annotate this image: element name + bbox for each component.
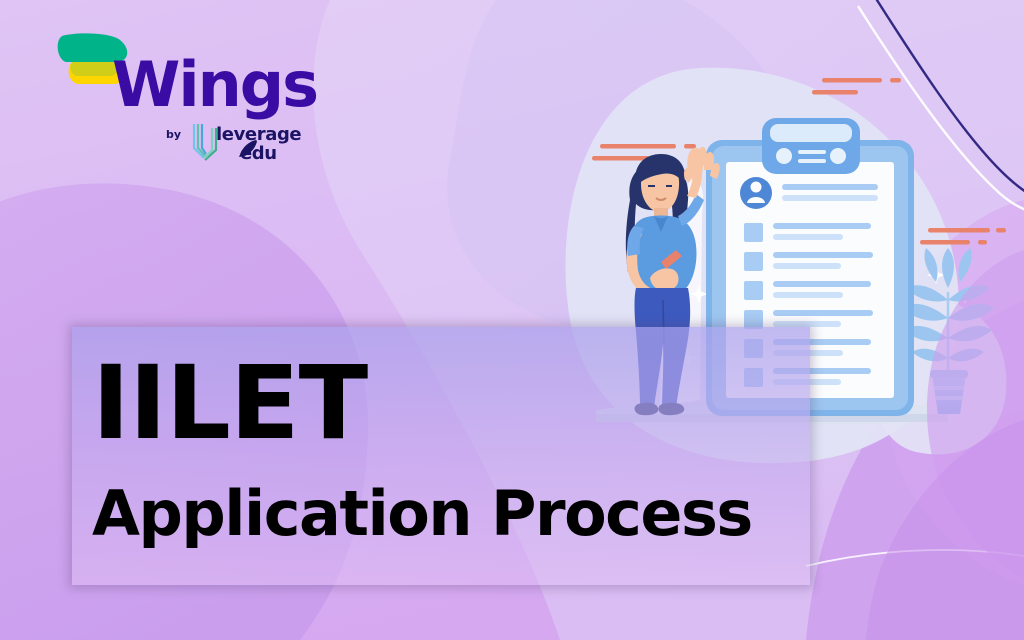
wings-wordmark: Wings: [112, 54, 317, 116]
checkbox-icon: [744, 223, 763, 242]
clipboard-clip-hole-left: [776, 148, 792, 164]
leverage-label: leverage: [216, 125, 301, 144]
clipboard-header-line: [782, 184, 878, 190]
clipboard-clip-hole-right: [830, 148, 846, 164]
poster-canvas: Wings by leverage edu IILET Application …: [0, 0, 1024, 640]
clipboard-clip-slot: [770, 124, 852, 142]
by-label: by: [166, 128, 181, 141]
clipboard-header-line: [782, 195, 878, 201]
title-panel: IILET Application Process: [72, 327, 810, 585]
wings-logo[interactable]: Wings by leverage edu: [52, 26, 312, 151]
checkbox-icon: [744, 252, 763, 271]
page-title: IILET: [92, 353, 367, 455]
checkbox-icon: [744, 281, 763, 300]
edu-label: edu: [240, 144, 301, 163]
leverage-edu-wordmark: leverage edu: [216, 125, 301, 163]
page-subtitle: Application Process: [92, 482, 752, 546]
